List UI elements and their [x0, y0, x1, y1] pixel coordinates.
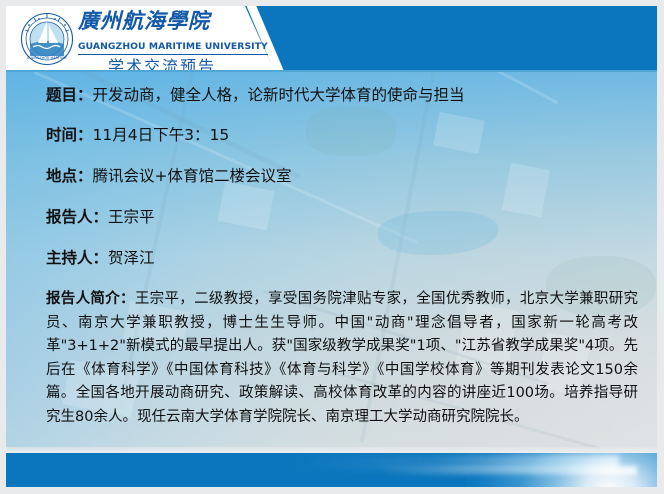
poster-canvas: GUANGZHOU MARITIME 廣州航海學院 GUANGZHOU MARI…: [6, 6, 657, 487]
field-topic: 题目：开发动商，健全人格，论新时代大学体育的使命与担当: [46, 84, 639, 106]
field-host-value: 贺泽江: [108, 249, 155, 267]
poster-subtitle: 学术交流预告: [78, 57, 246, 70]
field-topic-label: 题目：: [46, 86, 93, 104]
field-host: 主持人：贺泽江: [46, 247, 639, 269]
field-speaker: 报告人：王宗平: [46, 206, 639, 228]
poster-content: 题目：开发动商，健全人格，论新时代大学体育的使命与担当 时间：11月4日下午3：…: [6, 72, 657, 455]
brand-block: 廣州航海學院 GUANGZHOU MARITIME UNIVERSITY 学术交…: [78, 8, 258, 70]
field-location: 地点：腾讯会议+体育馆二楼会议室: [46, 165, 639, 187]
university-logo: GUANGZHOU MARITIME: [20, 12, 74, 66]
university-name-cn: 廣州航海學院: [78, 8, 258, 34]
field-time-value: 11月4日下午3：15: [93, 126, 230, 144]
announcement-poster: GUANGZHOU MARITIME 廣州航海學院 GUANGZHOU MARI…: [0, 0, 664, 494]
field-topic-value: 开发动商，健全人格，论新时代大学体育的使命与担当: [93, 86, 465, 104]
speaker-bio: 报告人简介：王宗平，二级教授，享受国务院津贴专家，全国优秀教师，北京大学兼职研究…: [46, 288, 638, 429]
poster-header: GUANGZHOU MARITIME 廣州航海學院 GUANGZHOU MARI…: [6, 6, 657, 70]
field-time-label: 时间：: [46, 126, 93, 144]
field-speaker-value: 王宗平: [108, 208, 155, 226]
field-location-value: 腾讯会议+体育馆二楼会议室: [93, 167, 292, 185]
field-location-label: 地点：: [46, 167, 93, 185]
poster-footer-band: [6, 453, 657, 487]
svg-text:GUANGZHOU MARITIME: GUANGZHOU MARITIME: [27, 56, 67, 60]
speaker-bio-text: 王宗平，二级教授，享受国务院津贴专家，全国优秀教师，北京大学兼职研究员、南京大学…: [46, 291, 638, 425]
university-name-en: GUANGZHOU MARITIME UNIVERSITY: [78, 41, 268, 55]
field-speaker-label: 报告人：: [46, 208, 108, 226]
field-host-label: 主持人：: [46, 249, 108, 267]
field-time: 时间：11月4日下午3：15: [46, 124, 639, 146]
footer-light-burst: [467, 453, 657, 487]
speaker-bio-label: 报告人简介：: [46, 291, 135, 307]
